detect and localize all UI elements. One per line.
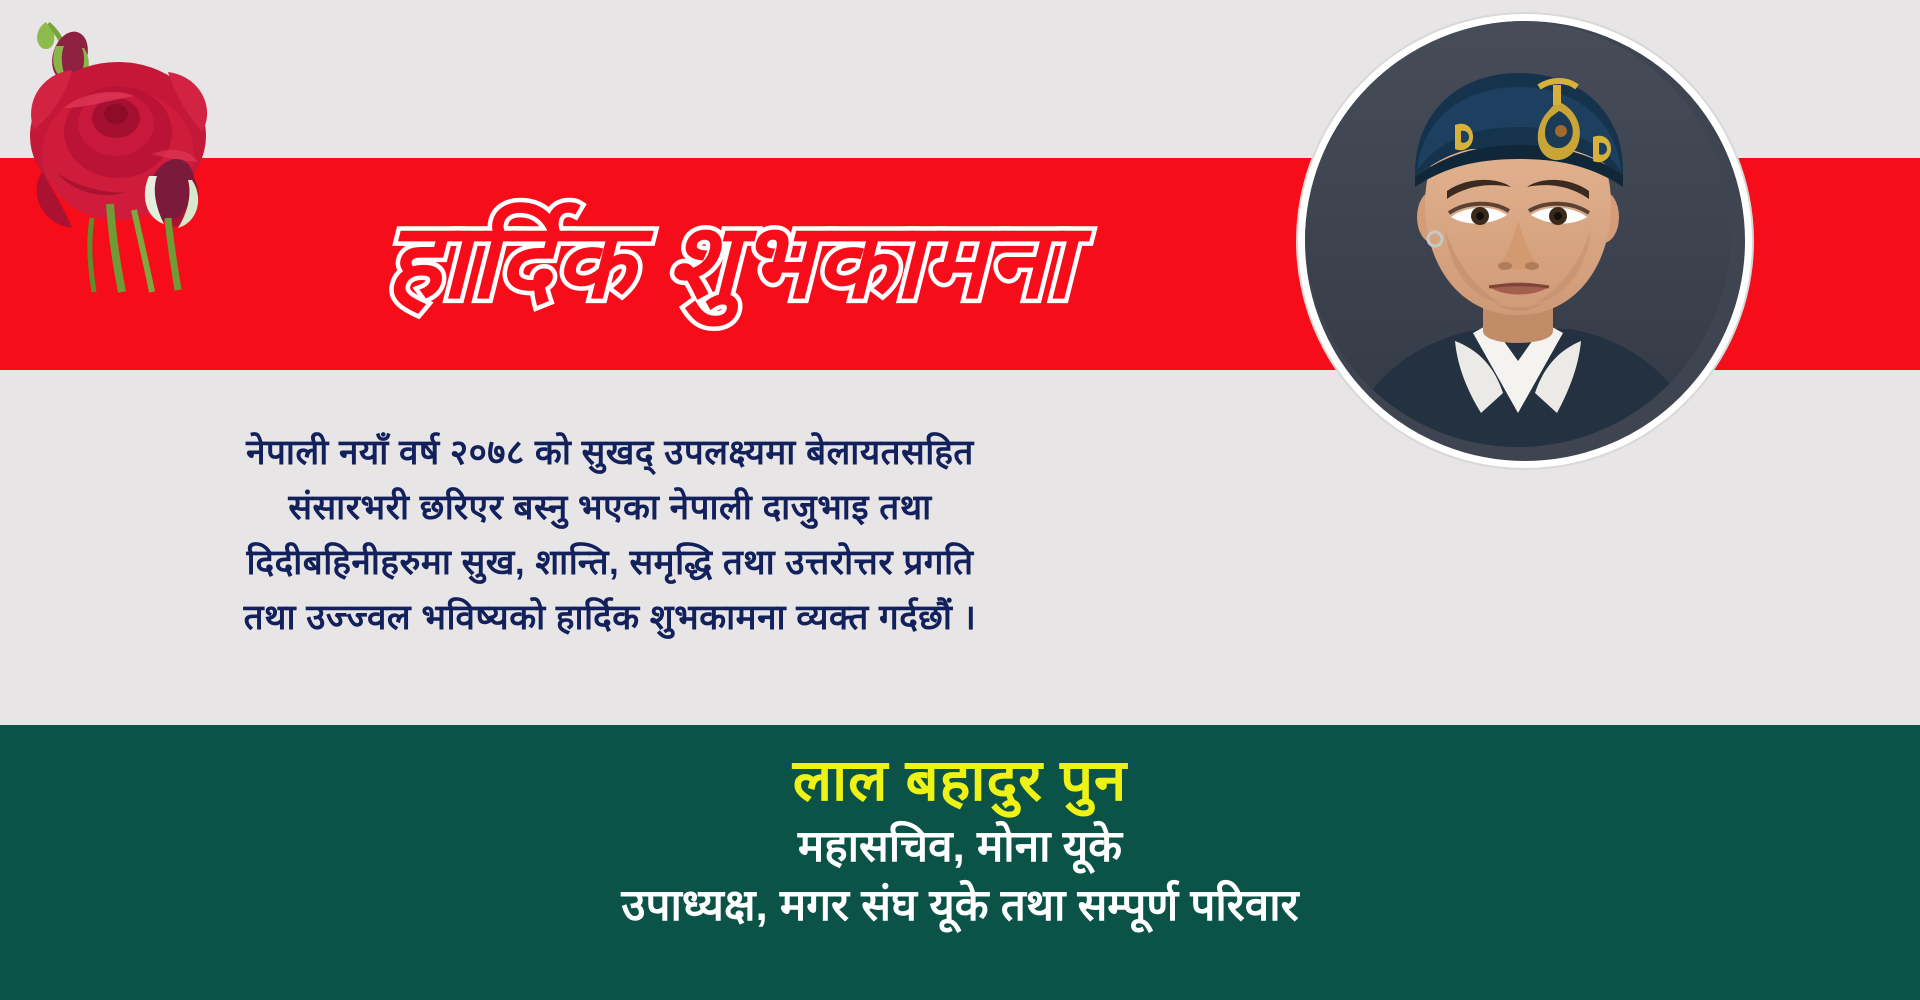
portrait-image [1305,21,1731,447]
message-line-2: संसारभरी छरिएर बस्नु भएका नेपाली दाजुभाइ… [40,480,1180,535]
signer-name: लाल बहादुर पुन [793,747,1128,815]
greeting-headline: हार्दिक शुभकामना [230,168,1230,358]
message-line-1: नेपाली नयाँ वर्ष २०७८ को सुखद् उपलक्ष्यम… [40,425,1180,480]
message-paragraph: नेपाली नयाँ वर्ष २०७८ को सुखद् उपलक्ष्यम… [40,425,1180,645]
message-line-3: दिदीबहिनीहरुमा सुख, शान्ति, समृद्धि तथा … [40,535,1180,590]
portrait-photo [1298,14,1752,468]
greeting-card: हार्दिक शुभकामना [0,0,1920,1000]
message-line-4: तथा उज्ज्वल भविष्यको हार्दिक शुभकामना व्… [40,590,1180,645]
signature-block: लाल बहादुर पुन महासचिव, मोना यूके उपाध्य… [0,725,1920,1000]
signer-role-secondary: उपाध्यक्ष, मगर संघ यूके तथा सम्पूर्ण परि… [621,878,1298,933]
signer-role-primary: महासचिव, मोना यूके [798,819,1122,874]
